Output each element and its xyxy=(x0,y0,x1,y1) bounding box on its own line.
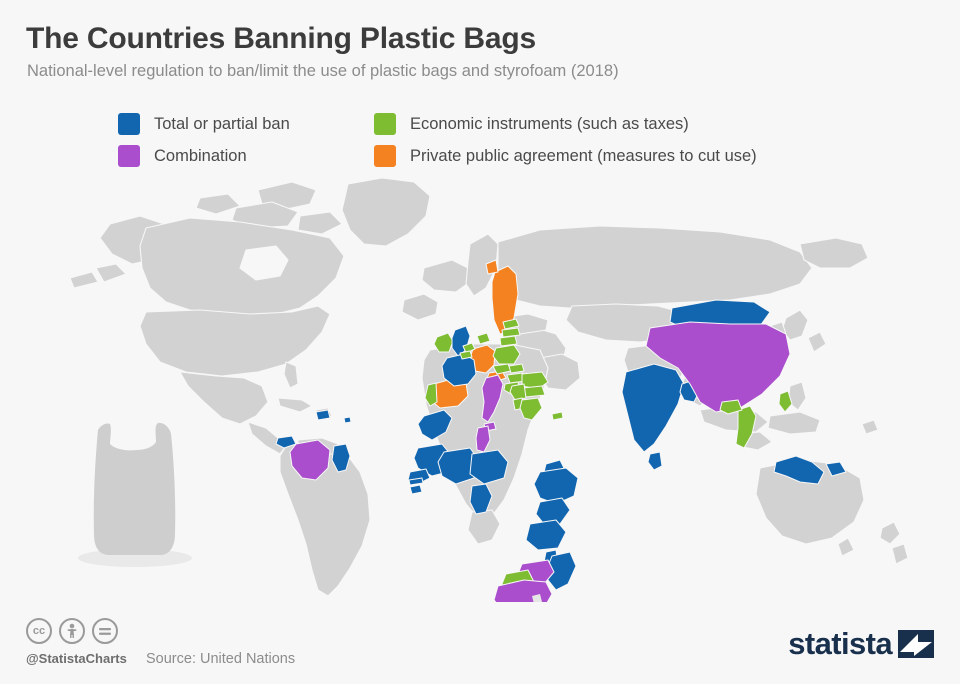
plastic-bag-illustration xyxy=(70,408,200,573)
country-sri-lanka[interactable] xyxy=(648,452,662,470)
footer: cc @StatistaCharts Source: United Natio xyxy=(0,602,960,684)
country-poland[interactable] xyxy=(493,345,520,364)
legend-item-private-public-agreement[interactable]: Private public agreement (measures to cu… xyxy=(374,140,757,172)
creative-commons-icons: cc xyxy=(26,618,118,644)
infographic-root: The Countries Banning Plastic Bags Natio… xyxy=(0,0,960,684)
page-title: The Countries Banning Plastic Bags xyxy=(26,22,536,56)
country-latvia[interactable] xyxy=(502,328,520,337)
cc-by-person-icon xyxy=(59,618,85,644)
legend-column-left: Total or partial ban Combination xyxy=(118,108,290,172)
country-haiti[interactable] xyxy=(316,410,330,420)
legend-item-label: Combination xyxy=(154,147,247,166)
equals-glyph xyxy=(98,627,112,636)
legend-column-right: Economic instruments (such as taxes) Pri… xyxy=(374,108,757,172)
country-india[interactable] xyxy=(622,364,684,452)
legend-item-economic-instruments[interactable]: Economic instruments (such as taxes) xyxy=(374,108,757,140)
statista-logo[interactable]: statista xyxy=(788,628,934,659)
legend-item-label: Total or partial ban xyxy=(154,115,290,134)
color-swatch-icon xyxy=(374,145,396,167)
source-text: Source: United Nations xyxy=(146,651,295,667)
country-greece[interactable] xyxy=(520,398,542,420)
country-belgium[interactable] xyxy=(460,351,472,359)
country-bulgaria[interactable] xyxy=(523,386,545,397)
cc-nd-equals-icon xyxy=(92,618,118,644)
country-slovakia[interactable] xyxy=(509,364,524,373)
legend-item-label: Private public agreement (measures to cu… xyxy=(410,147,757,166)
color-swatch-icon xyxy=(374,113,396,135)
cc-icon-label: cc xyxy=(33,625,45,637)
statista-mark-icon xyxy=(898,630,934,658)
legend-item-label: Economic instruments (such as taxes) xyxy=(410,115,689,134)
map-highlighted-countries xyxy=(276,260,846,602)
country-lithuania[interactable] xyxy=(500,336,517,346)
country-antigua-and-barbuda[interactable] xyxy=(344,417,351,423)
color-swatch-icon xyxy=(118,113,140,135)
person-glyph xyxy=(66,623,78,639)
page-subtitle: National-level regulation to ban/limit t… xyxy=(27,62,619,81)
bag-body xyxy=(94,423,176,555)
legend-item-total-or-partial-ban[interactable]: Total or partial ban xyxy=(118,108,290,140)
color-swatch-icon xyxy=(118,145,140,167)
country-denmark[interactable] xyxy=(477,333,490,344)
legend-item-combination[interactable]: Combination xyxy=(118,140,290,172)
country-guinea-bissau[interactable] xyxy=(410,485,422,494)
statista-wordmark: statista xyxy=(788,628,892,659)
cc-icon: cc xyxy=(26,618,52,644)
country-ireland[interactable] xyxy=(434,333,453,352)
country-cyprus[interactable] xyxy=(552,412,563,420)
statista-handle[interactable]: @StatistaCharts xyxy=(26,651,127,666)
country-tanzania[interactable] xyxy=(526,520,566,550)
plastic-bag-svg xyxy=(70,408,200,573)
